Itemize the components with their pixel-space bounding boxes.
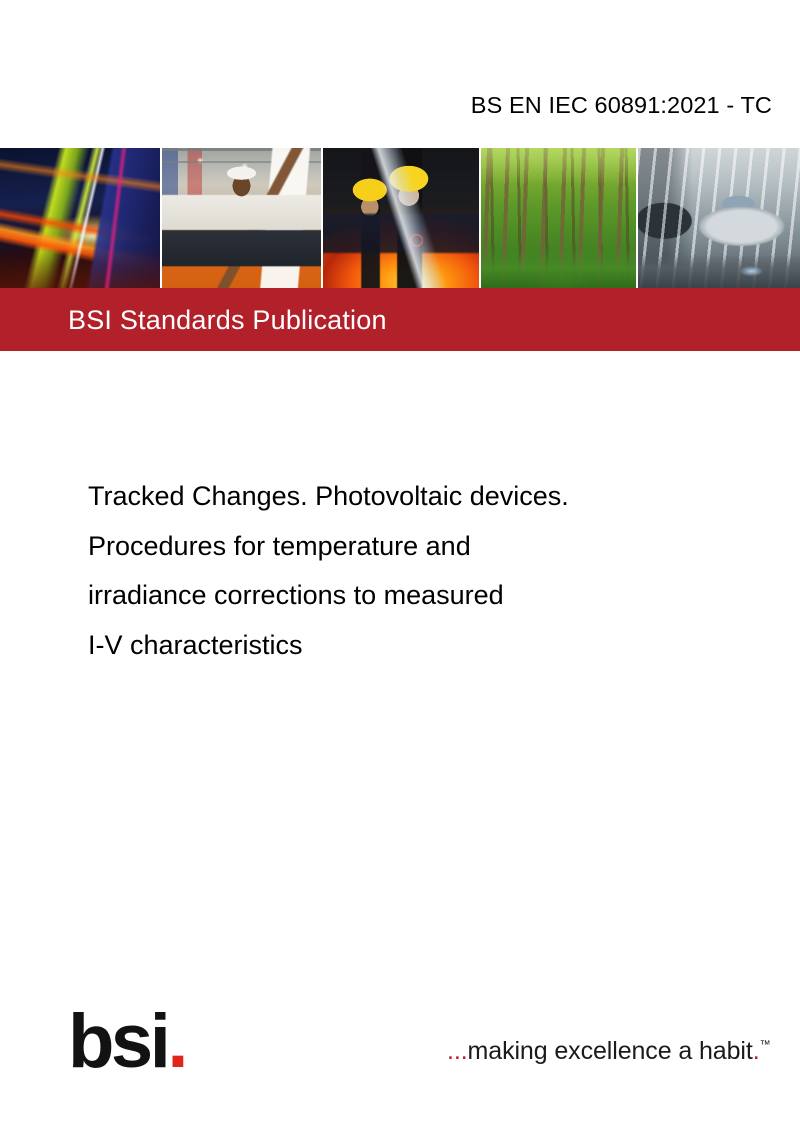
banner-label: BSI Standards Publication [68,305,387,336]
tagline-leading-ellipsis: ... [447,1037,468,1065]
cover-photo-warehouse-worker [162,148,322,288]
cover-photo-forest [481,148,637,288]
title-line: Tracked Changes. Photovoltaic devices. [88,472,728,522]
cover-photo-car-assembly-line [638,148,800,288]
cover-photo-night-traffic-light-trails [0,148,160,288]
bsi-logo-text: bsi [68,999,167,1084]
bsi-logo-dot: . [167,999,185,1084]
bsi-logo: bsi. [68,1004,185,1080]
cover-photo-firefighters [323,148,479,288]
tagline-text: making excellence a habit [468,1037,753,1065]
bsi-standards-publication-banner: BSI Standards Publication [0,288,800,351]
standard-number: BS EN IEC 60891:2021 - TC [0,92,772,119]
trademark-icon: ™ [760,1039,771,1051]
cover-photo-strip [0,148,800,288]
page-title: Tracked Changes. Photovoltaic devices. P… [88,472,728,670]
title-line: Procedures for temperature and [88,522,728,572]
title-line: I-V characteristics [88,621,728,671]
title-line: irradiance corrections to measured [88,571,728,621]
tagline-end-dot: . [753,1037,760,1065]
bsi-tagline: ...making excellence a habit.™ [447,1037,771,1066]
